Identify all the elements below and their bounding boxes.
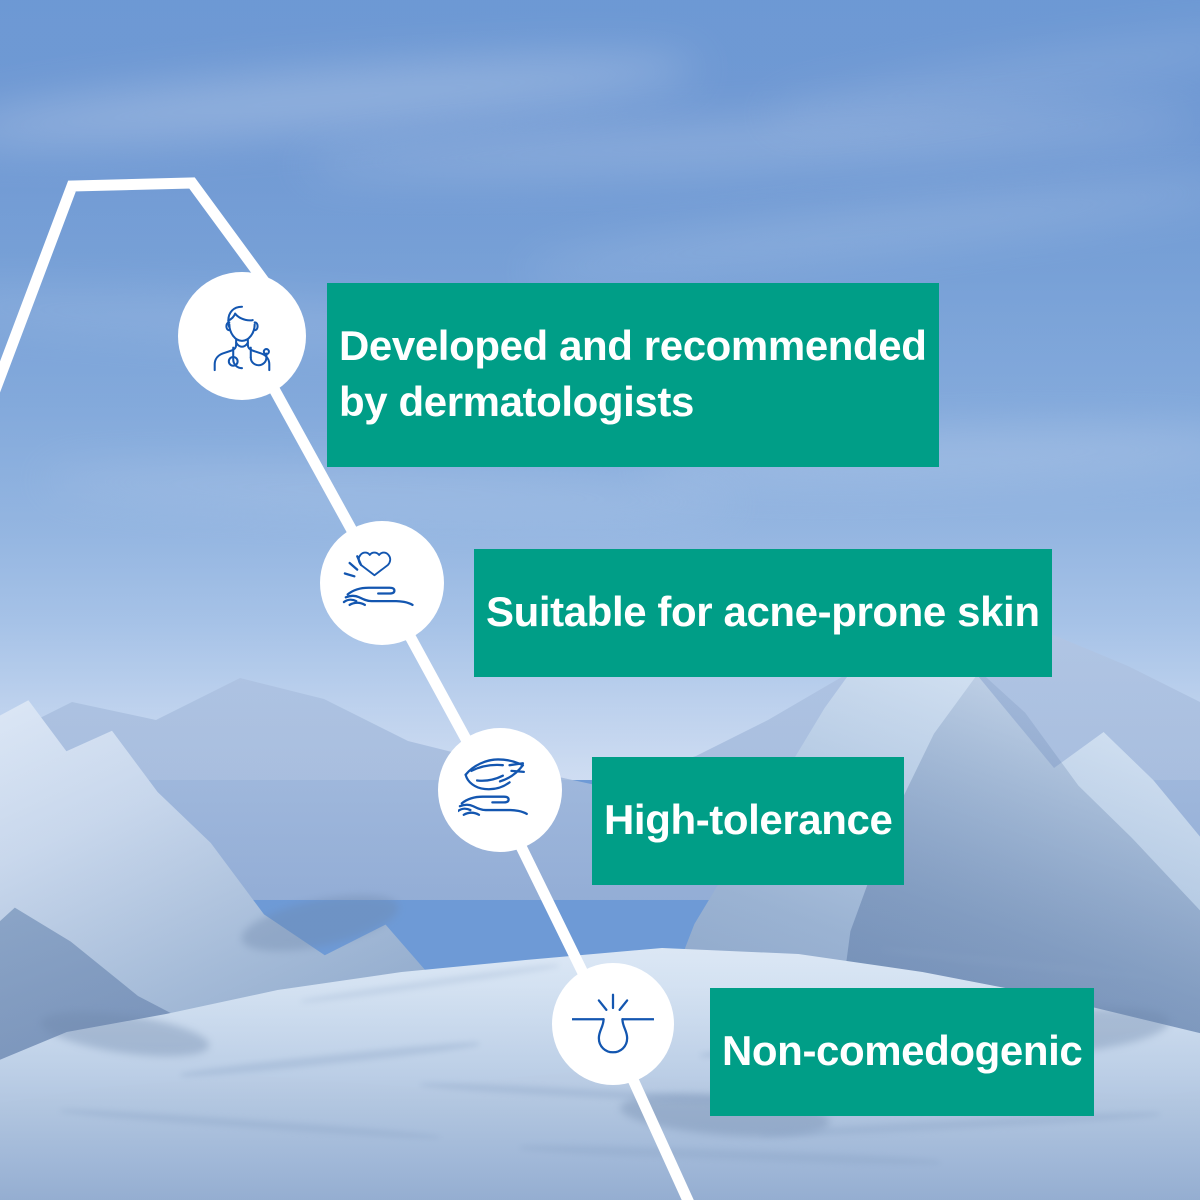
dermatologist-icon	[203, 297, 281, 375]
benefit-bubble-1[interactable]	[178, 272, 306, 400]
benefit-label-4-line-1: Non-comedogenic	[710, 1024, 1094, 1080]
benefit-label-1-line-1: Developed and recommended	[327, 319, 939, 375]
benefit-label-1-line-2: by dermatologists	[327, 375, 939, 431]
benefit-bubble-2[interactable]	[320, 521, 444, 645]
benefit-label-1: Developed and recommendedby dermatologis…	[327, 283, 939, 467]
pore-icon	[572, 991, 654, 1057]
benefit-label-2: Suitable for acne-prone skin	[474, 549, 1052, 677]
feather-hand-icon	[458, 750, 542, 830]
benefit-bubble-3[interactable]	[438, 728, 562, 852]
infographic-canvas: Developed and recommendedby dermatologis…	[0, 0, 1200, 1200]
benefit-label-2-line-1: Suitable for acne-prone skin	[474, 585, 1052, 641]
benefit-label-3: High-tolerance	[592, 757, 904, 885]
benefit-bubble-4[interactable]	[552, 963, 674, 1085]
hand-heart-icon	[342, 544, 422, 622]
benefit-label-3-line-1: High-tolerance	[592, 793, 904, 849]
benefit-label-4: Non-comedogenic	[710, 988, 1094, 1116]
